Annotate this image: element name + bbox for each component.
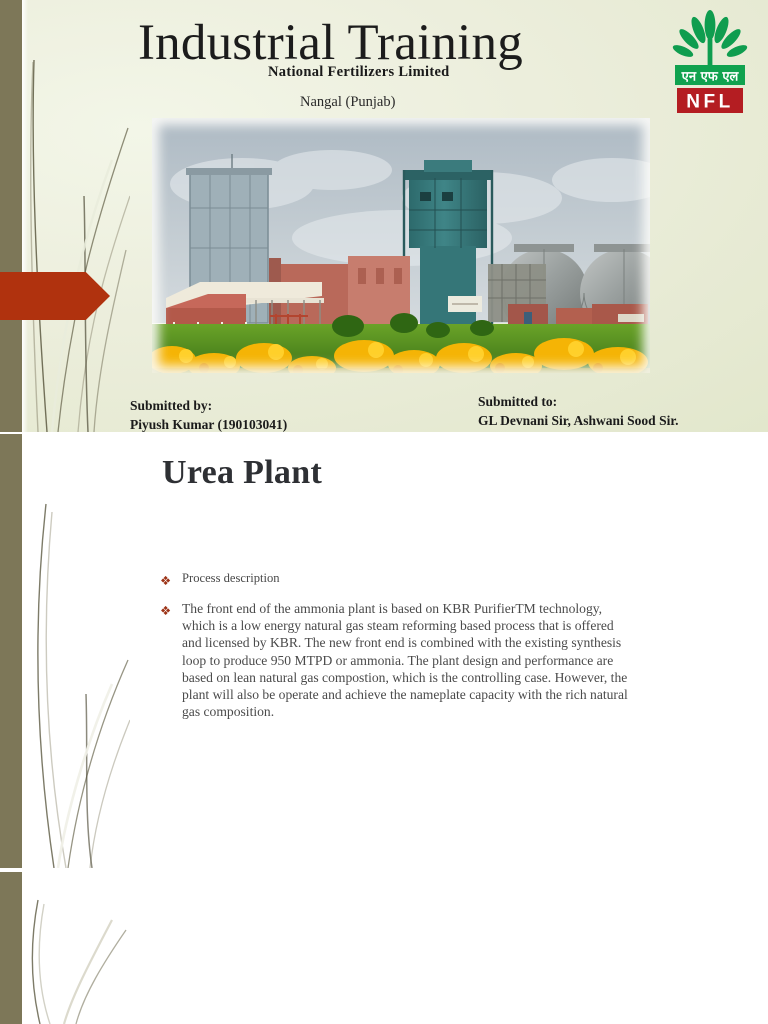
submitted-by-block: Submitted by: Piyush Kumar (190103041) — [130, 396, 287, 432]
grass-stems-decoration — [0, 0, 130, 432]
submitted-to-value: GL Devnani Sir, Ashwani Sood Sir. — [478, 411, 678, 430]
submitted-to-label: Submitted to: — [478, 392, 678, 411]
list-item: ❖ Process description — [160, 570, 630, 589]
slide-next-partial — [0, 872, 768, 1024]
flower-bullet-icon: ❖ — [160, 570, 182, 589]
list-item-text: The front end of the ammonia plant is ba… — [182, 600, 630, 720]
svg-text:NFL: NFL — [686, 92, 733, 113]
list-item-text: Process description — [182, 570, 280, 589]
submitted-by-label: Submitted by: — [130, 396, 287, 415]
plant-photograph — [152, 118, 650, 373]
grass-stems-decoration — [0, 434, 130, 868]
submitted-to-block: Submitted to: GL Devnani Sir, Ashwani So… — [478, 392, 678, 430]
organization-name: National Fertilizers Limited — [268, 64, 450, 81]
grass-stems-decoration — [0, 872, 130, 1024]
submitted-by-value: Piyush Kumar (190103041) — [130, 415, 287, 432]
location-label: Nangal (Punjab) — [300, 94, 395, 111]
page-title: Urea Plant — [162, 454, 322, 492]
bullet-list: ❖ Process description ❖ The front end of… — [160, 570, 630, 731]
flower-bullet-icon: ❖ — [160, 600, 182, 720]
svg-text:एन एफ एल: एन एफ एल — [681, 69, 740, 84]
slide-title: Industrial Training National Fertilizers… — [0, 0, 768, 432]
slide-urea-plant: Urea Plant ❖ Process description ❖ The f… — [0, 434, 768, 868]
nfl-logo: एन एफ एल NFL — [671, 8, 749, 116]
list-item: ❖ The front end of the ammonia plant is … — [160, 600, 630, 720]
